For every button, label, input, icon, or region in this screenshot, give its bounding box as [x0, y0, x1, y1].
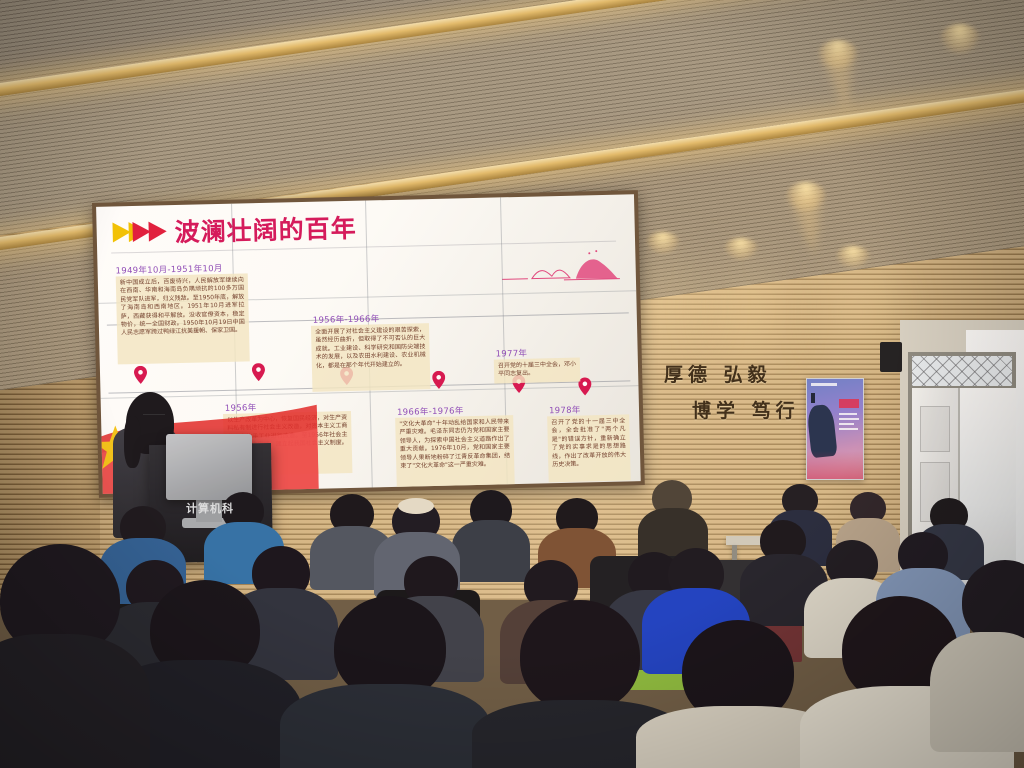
audience-member-body	[0, 634, 150, 768]
timeline-pin-icon	[432, 371, 445, 389]
timeline-card: 召开了党的十一届三中全会，全会批准了"两个凡是"的错误方针，重新确立了党的实事求…	[547, 414, 631, 482]
poster-logo	[811, 383, 837, 386]
wall-light-glow	[632, 244, 704, 364]
audience-member-head	[520, 600, 640, 712]
card-body: 召开了党的十一届三中全会，全会批准了"两个凡是"的错误方针，重新确立了党的实事求…	[551, 417, 626, 469]
poster-headline	[839, 399, 859, 408]
podium-label: 计算机科	[186, 500, 234, 516]
card-body: 召开党的十届三中全会，邓小平同志复出。	[498, 361, 576, 380]
mountain-line-art-icon	[501, 247, 620, 290]
poster-text-line	[839, 418, 859, 420]
lecture-hall-photo: 厚德 弘毅 博学 笃行 波澜壮阔的百年	[0, 0, 1024, 768]
card-date: 1978年	[549, 404, 581, 417]
audience-member-body	[452, 520, 530, 582]
card-body: "文化大革命"十年动乱给国家和人民带来严重灾难。毛泽东同志仍为党和国家主要领导人…	[399, 418, 510, 471]
presenter-hair-side	[124, 416, 141, 468]
card-body: 全面开展了对社会主义建设的艰苦探索，虽然经历曲折，但取得了不可否认的巨大成就。工…	[315, 326, 426, 371]
timeline-card: 新中国成立后，百废待兴，人民解放军继续向在西南、华南和海南岛负隅顽抗的100多万…	[116, 273, 250, 364]
poster-text-line	[839, 423, 854, 425]
double-chevron-icon	[110, 219, 169, 244]
lattice-pattern	[912, 356, 1012, 386]
ceiling-spotlight-icon	[940, 24, 980, 54]
hair-bow-icon	[398, 498, 434, 514]
timeline-card: 召开党的十届三中全会，邓小平同志复出。	[494, 358, 581, 384]
card-body: 新中国成立后，百废待兴，人民解放军继续向在西南、华南和海南岛负隅顽抗的100多万…	[120, 276, 245, 338]
wall-motto-line-1: 厚德 弘毅	[664, 360, 772, 387]
poster-figure-head	[811, 393, 815, 403]
timeline-card: "文化大革命"十年动乱给国家和人民带来严重灾难。毛泽东同志仍为党和国家主要领导人…	[395, 415, 515, 494]
lattice-window-icon	[912, 356, 1012, 386]
slide-title: 波澜壮阔的百年	[174, 209, 357, 249]
wall-speaker-icon	[880, 342, 902, 372]
poster-text-line	[839, 428, 858, 430]
audience-member-body	[930, 632, 1024, 752]
door-panel	[920, 406, 950, 452]
poster-text-line	[839, 413, 857, 415]
presenter-glasses-icon	[143, 414, 165, 421]
timeline-card: 全面开展了对社会主义建设的艰苦探索，虽然经历曲折，但取得了不可否认的巨大成就。工…	[311, 323, 431, 392]
poster-footer-band	[807, 451, 863, 479]
podium-monitor[interactable]	[166, 434, 252, 500]
wall-motto-line-2: 博学 笃行	[692, 396, 800, 423]
card-date: 1977年	[496, 347, 528, 360]
timeline-pin-icon	[252, 363, 265, 381]
audience-member-body	[280, 684, 490, 768]
timeline-pin-icon	[134, 366, 147, 384]
wall-light-glow	[712, 250, 784, 370]
wall-poster-icon[interactable]	[806, 378, 864, 480]
